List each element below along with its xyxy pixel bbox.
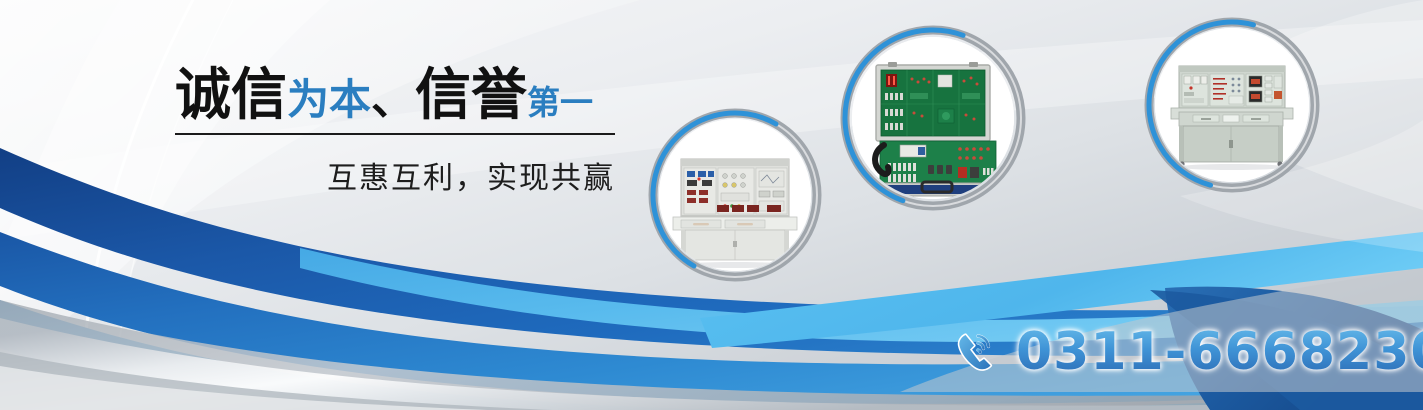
product-image-2 xyxy=(852,37,1014,199)
headline-part-1: 诚信 xyxy=(175,63,287,128)
headline-part-3: 信誉 xyxy=(415,63,527,128)
product-circle-1[interactable] xyxy=(648,108,822,282)
product-circle-2[interactable] xyxy=(840,25,1026,211)
headline-block: 诚信为本、信誉第一 互惠互利，实现共赢 xyxy=(175,68,625,197)
product-circle-3[interactable] xyxy=(1144,17,1320,193)
headline-punct: 、 xyxy=(371,74,415,125)
headline-part-2: 为本 xyxy=(287,75,371,124)
contact-phone-block[interactable]: 0311-66682303 xyxy=(950,326,1423,378)
subtitle: 互惠互利，实现共赢 xyxy=(175,135,615,197)
product-image-3 xyxy=(1155,28,1309,182)
headline-part-4: 第一 xyxy=(527,83,593,122)
product-image-1 xyxy=(659,119,811,271)
headline: 诚信为本、信誉第一 xyxy=(175,68,625,124)
phone-call-icon xyxy=(950,326,1002,378)
promo-banner: 诚信为本、信誉第一 互惠互利，实现共赢 xyxy=(0,0,1423,410)
phone-number[interactable]: 0311-66682303 xyxy=(1016,326,1423,378)
